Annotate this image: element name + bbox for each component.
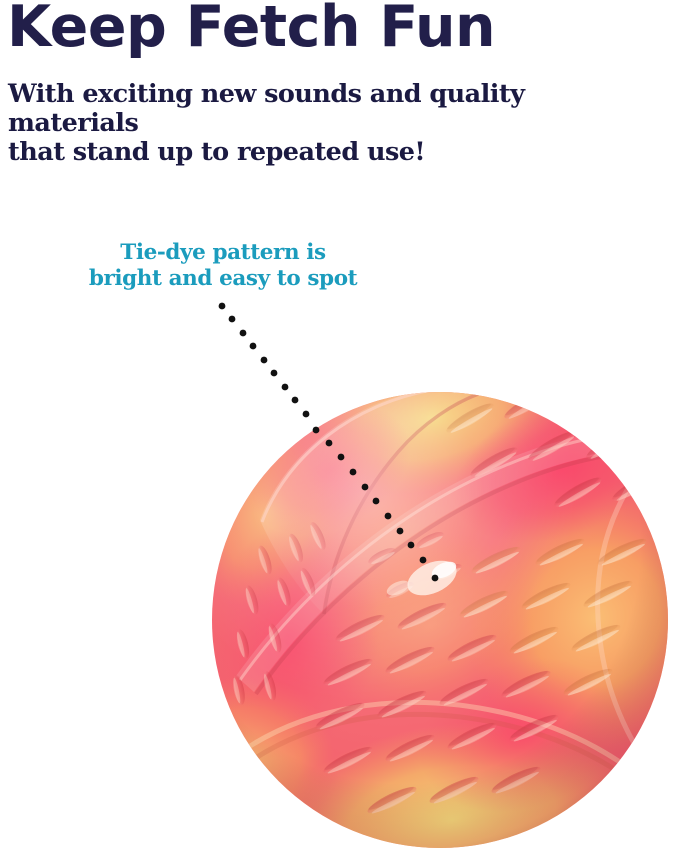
callout-line-1: Tie-dye pattern is	[120, 240, 325, 265]
callout-label: Tie-dye pattern is bright and easy to sp…	[73, 240, 373, 292]
dog-ball-illustration	[0, 0, 679, 853]
callout-line-2: bright and easy to spot	[73, 266, 373, 292]
product-image	[0, 0, 679, 853]
ball-body	[144, 316, 679, 853]
